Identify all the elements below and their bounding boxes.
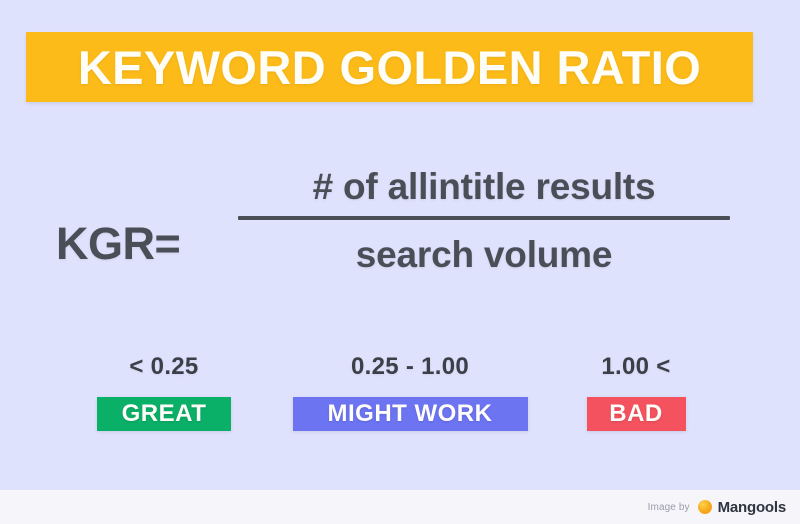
formula-numerator: # of allintitle results — [313, 168, 656, 216]
range-value: 1.00 < — [601, 355, 670, 379]
status-badge-might-work: MIGHT WORK — [293, 397, 528, 431]
mango-icon — [698, 500, 712, 514]
range-value: < 0.25 — [129, 355, 198, 379]
range-item-bad: 1.00 < BAD — [560, 355, 712, 431]
range-item-might-work: 0.25 - 1.00 MIGHT WORK — [290, 355, 530, 431]
footer-attribution: Image by Mangools — [0, 490, 800, 524]
credit-label: Image by — [648, 502, 690, 513]
kgr-infographic: KEYWORD GOLDEN RATIO KGR= # of allintitl… — [0, 0, 800, 524]
formula-fraction: # of allintitle results search volume — [238, 168, 730, 273]
title-banner: KEYWORD GOLDEN RATIO — [26, 32, 753, 102]
formula-denominator: search volume — [356, 220, 613, 273]
formula-left-hand-side: KGR= — [56, 218, 180, 270]
status-badge-bad: BAD — [587, 397, 686, 431]
page-title: KEYWORD GOLDEN RATIO — [78, 44, 701, 91]
range-legend: < 0.25 GREAT 0.25 - 1.00 MIGHT WORK 1.00… — [0, 355, 800, 440]
status-badge-great: GREAT — [97, 397, 231, 431]
status-badge-label: GREAT — [122, 400, 207, 428]
formula-block: KGR= # of allintitle results search volu… — [0, 168, 800, 313]
brand-name: Mangools — [718, 499, 786, 516]
range-value: 0.25 - 1.00 — [351, 355, 469, 379]
status-badge-label: MIGHT WORK — [328, 400, 493, 428]
status-badge-label: BAD — [609, 400, 663, 428]
range-item-great: < 0.25 GREAT — [64, 355, 264, 431]
